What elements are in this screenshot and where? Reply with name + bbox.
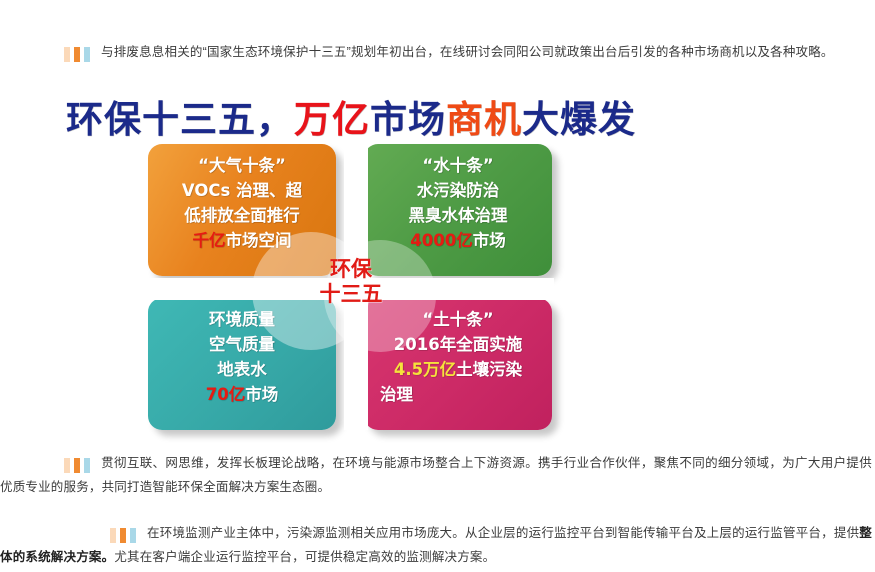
quadrant-env-line-1: 环境质量 [158,307,326,332]
page-title: 环保十三五，万亿市场商机大爆发 [66,89,636,143]
quadrant-air-figure: 千亿 [193,231,226,250]
bar-marker-orange-icon-2 [74,458,80,473]
quadrant-soil-line-1: “土十条” [374,307,542,332]
quadrant-water-line-1: “水十条” [374,153,542,178]
bar-marker-orange-icon-3 [120,528,126,543]
page-title-segment-3: 市场 [370,98,446,141]
intro-paragraph-text: 与排废息息相关的“国家生态环境保护十三五”规划年初出台，在线研讨会同阳公司就政策… [101,45,834,59]
quadrant-environment-quality[interactable]: 环境质量 空气质量 地表水 70亿市场 [148,298,336,430]
quadrant-soil-figure-suffix: 土壤污染 [456,360,522,379]
quadrant-air-line-4: 千亿市场空间 [158,228,326,253]
bar-marker-group-3 [110,524,140,546]
quadrant-env-line-2: 空气质量 [158,332,326,357]
page-title-segment-4: 商机 [446,98,522,141]
quadrant-soil-ten-articles[interactable]: “土十条” 2016年全面实施 4.5万亿土壤污染 治理 [364,298,552,430]
quadrant-air-line-2: VOCs 治理、超 [158,178,326,203]
quadrant-soil-line-2: 2016年全面实施 [374,332,542,357]
bar-marker-group [64,43,94,65]
page-title-segment-5: 大爆发 [522,98,636,141]
infographic-center-label: 环保 十三五 [268,257,434,307]
quadrant-env-line-3: 地表水 [158,357,326,382]
quadrant-water-figure: 4000亿 [410,231,472,250]
infographic-four-quadrants: “大气十条” VOCs 治理、超 低排放全面推行 千亿市场空间 “水十条” 水污… [148,144,554,430]
quadrant-water-figure-suffix: 市场 [473,231,506,250]
bar-marker-group-2 [64,454,94,476]
bar-marker-peach-icon-3 [110,528,116,543]
bar-marker-orange-icon [74,47,80,62]
page-title-segment-1: 环保十三五， [66,98,294,141]
quadrant-soil-line-3: 4.5万亿土壤污染 [374,357,542,382]
bar-marker-blue-icon-2 [84,458,90,473]
bar-marker-peach-icon-2 [64,458,70,473]
quadrant-soil-figure: 4.5万亿 [394,360,456,379]
quadrant-env-figure: 70亿 [206,385,245,404]
quadrant-water-line-2: 水污染防治 [374,178,542,203]
middle-paragraph-text: 贯彻互联、网思维，发挥长板理论战略，在环境与能源市场整合上下游资源。携手行业合作… [0,456,872,494]
quadrant-env-line-4: 70亿市场 [158,382,326,407]
bottom-paragraph: 在环境监测产业主体中，污染源监测相关应用市场庞大。从企业层的运行监控平台到智能传… [0,522,872,568]
quadrant-air-figure-suffix: 市场空间 [226,231,292,250]
bottom-paragraph-text-1: 在环境监测产业主体中，污染源监测相关应用市场庞大。从企业层的运行监控平台到智能传… [147,526,859,540]
quadrant-env-figure-suffix: 市场 [245,385,278,404]
bar-marker-peach-icon [64,47,70,62]
middle-paragraph: 贯彻互联、网思维，发挥长板理论战略，在环境与能源市场整合上下游资源。携手行业合作… [0,452,872,498]
quadrant-air-line-1: “大气十条” [158,153,326,178]
quadrant-water-line-4: 4000亿市场 [374,228,542,253]
bar-marker-blue-icon-3 [130,528,136,543]
center-label-line-1: 环保 [268,257,434,282]
center-label-line-2: 十三五 [268,282,434,307]
bar-marker-blue-icon [84,47,90,62]
quadrant-air-line-3: 低排放全面推行 [158,203,326,228]
bottom-paragraph-text-2: 尤其在客户端企业运行监控平台，可提供稳定高效的监测解决方案。 [114,550,495,564]
quadrant-soil-line-4: 治理 [374,382,542,407]
quadrant-water-line-3: 黑臭水体治理 [374,203,542,228]
intro-paragraph: 与排废息息相关的“国家生态环境保护十三五”规划年初出台，在线研讨会同阳公司就政策… [64,41,864,65]
page-title-segment-2: 万亿 [294,98,370,141]
